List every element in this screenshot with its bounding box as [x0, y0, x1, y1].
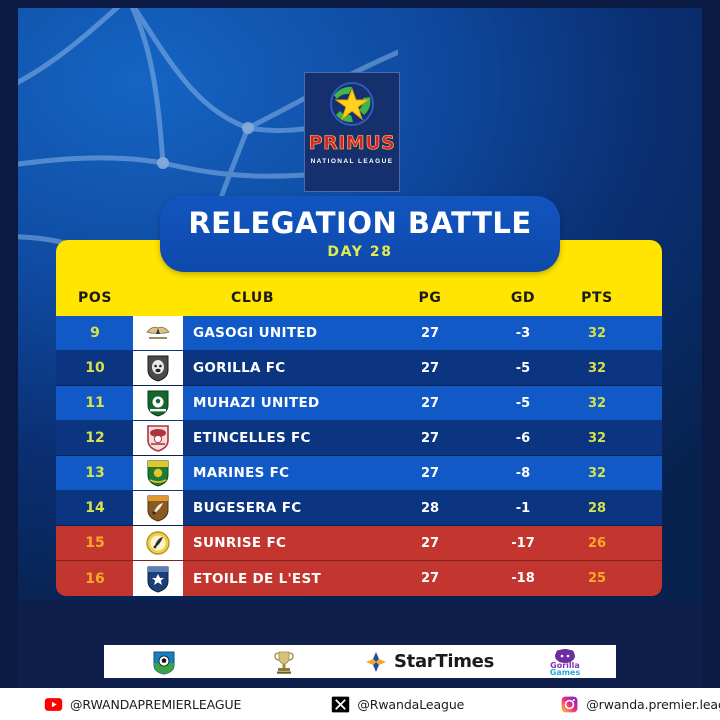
row-club-name: SUNRISE FC — [183, 526, 286, 560]
row-goal-difference: -5 — [488, 351, 558, 385]
etincelles-fc-crest-icon — [133, 421, 183, 455]
standings-table: POS CLUB PG GD PTS 9GASOGI UNITED27-3321… — [56, 240, 662, 596]
sunrise-fc-crest-icon — [133, 526, 183, 560]
page-title: RELEGATION BATTLE — [160, 206, 560, 240]
row-points: 32 — [562, 316, 632, 350]
row-played-games: 28 — [395, 491, 465, 525]
instagram-icon — [560, 695, 579, 714]
row-played-games: 27 — [395, 561, 465, 596]
row-played-games: 27 — [395, 456, 465, 490]
row-position: 13 — [56, 456, 134, 490]
social-footer: @RWANDAPREMIERLEAGUE @RwandaLeague @rwan… — [0, 688, 720, 720]
social-instagram[interactable]: @rwanda.premier.league — [560, 695, 720, 714]
row-club-name: BUGESERA FC — [183, 491, 301, 525]
instagram-handle: @rwanda.premier.league — [586, 697, 720, 712]
primus-star-ball-icon — [324, 79, 380, 131]
row-points: 25 — [562, 561, 632, 596]
social-youtube[interactable]: @RWANDAPREMIERLEAGUE — [44, 695, 241, 714]
column-header-pos: POS — [56, 290, 134, 306]
ferwafa-crest-icon — [151, 649, 177, 675]
row-played-games: 27 — [395, 351, 465, 385]
sponsor-startimes: StarTimes — [344, 645, 514, 678]
bugesera-fc-crest-icon — [133, 491, 183, 525]
row-points: 32 — [562, 456, 632, 490]
gasogi-united-crest-icon — [133, 316, 183, 350]
table-row: 13MARINES FC27-832 — [56, 456, 662, 491]
gorilla-fc-crest-icon — [133, 351, 183, 385]
row-position: 11 — [56, 386, 134, 420]
row-club-name: ETOILE DE L'EST — [183, 561, 321, 596]
table-row: 10GORILLA FC27-532 — [56, 351, 662, 386]
row-club-name: GORILLA FC — [183, 351, 285, 385]
peace-cup-trophy-icon — [273, 648, 295, 676]
table-row: 12ETINCELLES FC27-632 — [56, 421, 662, 456]
row-goal-difference: -1 — [488, 491, 558, 525]
sponsor-strip: StarTimes Gorilla Games — [104, 645, 616, 678]
row-points: 28 — [562, 491, 632, 525]
sponsor-ferwafa — [104, 645, 224, 678]
table-row: 11MUHAZI UNITED27-532 — [56, 386, 662, 421]
row-played-games: 27 — [395, 386, 465, 420]
row-position: 15 — [56, 526, 134, 560]
muhazi-united-crest-icon — [133, 386, 183, 420]
row-played-games: 27 — [395, 526, 465, 560]
etoile-de-lest-crest-icon — [133, 561, 183, 596]
sponsor-gorilla-games: Gorilla Games — [514, 645, 616, 678]
social-x[interactable]: @RwandaLeague — [331, 695, 464, 714]
row-goal-difference: -5 — [488, 386, 558, 420]
youtube-icon — [44, 695, 63, 714]
row-played-games: 27 — [395, 421, 465, 455]
row-club-name: ETINCELLES FC — [183, 421, 311, 455]
x-handle: @RwandaLeague — [357, 697, 464, 712]
table-row: 16ETOILE DE L'EST27-1825 — [56, 561, 662, 596]
table-row: 9GASOGI UNITED27-332 — [56, 316, 662, 351]
row-goal-difference: -18 — [488, 561, 558, 596]
row-club-name: MARINES FC — [183, 456, 289, 490]
sponsor-peace-cup — [224, 645, 344, 678]
column-header-pts: PTS — [562, 290, 632, 306]
row-position: 10 — [56, 351, 134, 385]
row-position: 12 — [56, 421, 134, 455]
primus-wordmark: PRIMUS — [309, 132, 396, 154]
graphic-root: PRIMUS NATIONAL LEAGUE RELEGATION BATTLE… — [0, 0, 720, 720]
row-position: 9 — [56, 316, 134, 350]
matchday-label: DAY 28 — [160, 244, 560, 260]
row-goal-difference: -6 — [488, 421, 558, 455]
row-points: 32 — [562, 351, 632, 385]
marines-fc-crest-icon — [133, 456, 183, 490]
row-position: 16 — [56, 561, 134, 596]
row-club-name: GASOGI UNITED — [183, 316, 317, 350]
table-row: 15SUNRISE FC27-1726 — [56, 526, 662, 561]
column-header-gd: GD — [488, 290, 558, 306]
row-goal-difference: -8 — [488, 456, 558, 490]
column-header-pg: PG — [395, 290, 465, 306]
gorilla-games-logo-icon: Gorilla Games — [536, 648, 594, 676]
table-body: 9GASOGI UNITED27-33210GORILLA FC27-53211… — [56, 316, 662, 596]
row-position: 14 — [56, 491, 134, 525]
primus-league-logo: PRIMUS NATIONAL LEAGUE — [304, 72, 400, 192]
row-goal-difference: -3 — [488, 316, 558, 350]
x-twitter-icon — [331, 695, 350, 714]
row-points: 32 — [562, 386, 632, 420]
row-played-games: 27 — [395, 316, 465, 350]
svg-text:Games: Games — [550, 668, 581, 676]
row-goal-difference: -17 — [488, 526, 558, 560]
row-points: 26 — [562, 526, 632, 560]
primus-subtitle: NATIONAL LEAGUE — [311, 158, 394, 165]
row-club-name: MUHAZI UNITED — [183, 386, 319, 420]
table-row: 14BUGESERA FC28-128 — [56, 491, 662, 526]
startimes-logo-icon — [364, 650, 388, 674]
row-points: 32 — [562, 421, 632, 455]
startimes-wordmark: StarTimes — [394, 651, 494, 672]
youtube-handle: @RWANDAPREMIERLEAGUE — [70, 697, 241, 712]
column-header-club: CLUB — [231, 290, 274, 306]
title-banner: RELEGATION BATTLE DAY 28 — [160, 196, 560, 272]
